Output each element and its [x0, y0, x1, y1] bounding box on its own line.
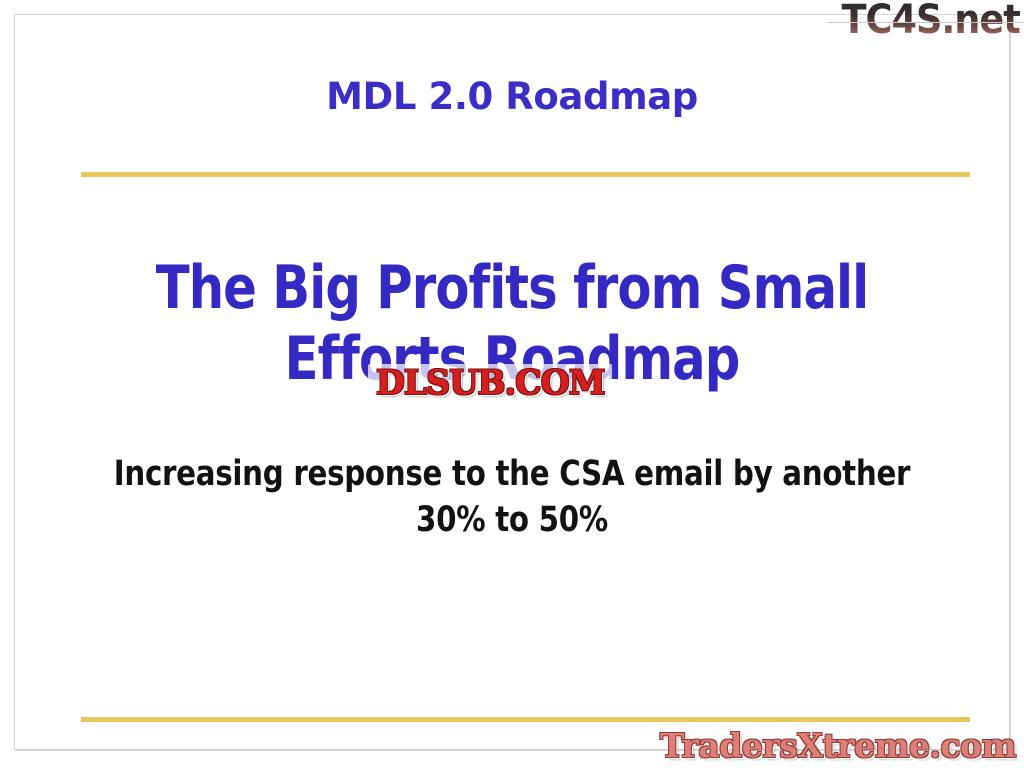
divider-bottom [81, 717, 970, 722]
slide-title: MDL 2.0 Roadmap [15, 77, 1009, 118]
content-subtext: Increasing response to the CSA email by … [106, 395, 919, 544]
watermark-dlsub-com: DLSUB.COM [368, 364, 612, 403]
watermark-tc4s-net: TC4S.net [842, 0, 1020, 40]
divider-top [81, 172, 970, 177]
watermark-tradersxtreme-com: TradersXtreme.com [660, 729, 1016, 762]
